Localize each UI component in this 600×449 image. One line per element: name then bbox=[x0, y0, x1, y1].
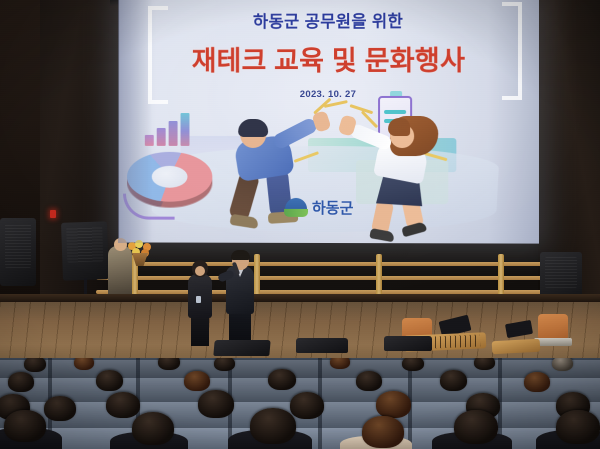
audience-head bbox=[198, 390, 234, 418]
stage-monitor-wedge-3 bbox=[384, 336, 432, 351]
slide-title: 재테크 교육 및 문화행사 bbox=[119, 39, 539, 79]
railing-post-2 bbox=[254, 254, 260, 298]
audience-head bbox=[454, 410, 498, 444]
stage-railing-rail-2 bbox=[96, 276, 566, 280]
railing-post-4 bbox=[498, 254, 504, 298]
speaker-grill bbox=[545, 257, 577, 288]
audience-head bbox=[330, 358, 350, 369]
audience-head bbox=[4, 410, 46, 442]
audience-head bbox=[8, 372, 34, 392]
presenter-1-hair bbox=[231, 250, 250, 260]
bar-4 bbox=[181, 113, 190, 146]
slide-text-block: 하동군 공무원을 위한 재테크 교육 및 문화행사 2023. 10. 27 bbox=[119, 0, 539, 100]
orange-chair-back-2 bbox=[538, 314, 568, 340]
emblem-hills-shape bbox=[284, 209, 308, 217]
audience-head bbox=[24, 358, 46, 372]
stage-railing-rail-1 bbox=[96, 262, 566, 266]
slide-subtitle: 하동군 공무원을 위한 bbox=[119, 7, 539, 32]
audience-head bbox=[250, 408, 296, 444]
bar-1 bbox=[145, 135, 154, 146]
slide-bracket-left bbox=[148, 6, 168, 104]
audience-head bbox=[214, 358, 235, 371]
donut-swoosh bbox=[123, 194, 175, 220]
illustration-man-hair bbox=[238, 119, 268, 137]
audience-head bbox=[552, 358, 573, 371]
slide-illustration: 하동군 bbox=[119, 94, 539, 243]
stage-front-edge bbox=[0, 294, 600, 302]
pa-speaker-left-2 bbox=[61, 221, 109, 281]
donut-chart-graphic bbox=[123, 146, 220, 216]
bar-2 bbox=[157, 128, 166, 146]
audience-head bbox=[158, 358, 180, 370]
stage-monitor-wedge-2 bbox=[296, 338, 348, 353]
hadong-logo-text: 하동군 bbox=[312, 196, 353, 217]
audience-head bbox=[376, 391, 411, 418]
audience-head bbox=[440, 370, 467, 391]
speaker-grill bbox=[66, 226, 103, 262]
audience-head bbox=[132, 412, 174, 445]
projection-screen: 하동군 공무원을 위한 재테크 교육 및 문화행사 2023. 10. 27 bbox=[119, 0, 539, 244]
audience-seating bbox=[0, 358, 600, 449]
audience-head bbox=[106, 392, 140, 418]
audience-head bbox=[402, 358, 424, 371]
audience-head bbox=[556, 410, 600, 444]
presenter-2-legs bbox=[191, 314, 209, 346]
flower-bouquet bbox=[128, 240, 154, 260]
audience-head bbox=[268, 369, 296, 390]
bouquet-flower-2 bbox=[135, 240, 143, 248]
clipboard-line-1 bbox=[384, 110, 406, 114]
gayageum-zither-2 bbox=[492, 339, 541, 354]
audience-head bbox=[524, 372, 550, 392]
auditorium-photo: 하동군 공무원을 위한 재테크 교육 및 문화행사 2023. 10. 27 bbox=[0, 0, 600, 449]
audience-head bbox=[362, 416, 404, 448]
hadong-emblem-icon bbox=[284, 197, 308, 217]
presenter-2-badge bbox=[196, 296, 201, 303]
slide-bracket-right bbox=[502, 2, 522, 100]
bar-3 bbox=[169, 121, 178, 146]
stage-attendant-head bbox=[114, 238, 127, 251]
stage-monitor-wedge-1 bbox=[213, 340, 270, 356]
audience-head bbox=[184, 371, 210, 391]
audience-head bbox=[96, 370, 123, 391]
exit-indicator-light-1 bbox=[50, 210, 56, 218]
pa-speaker-left-1 bbox=[0, 218, 36, 286]
presenter-2-face bbox=[195, 266, 205, 276]
donut-hole bbox=[152, 166, 188, 188]
audience-head bbox=[290, 392, 324, 419]
speaker-grill bbox=[5, 223, 31, 268]
audience-head bbox=[474, 358, 495, 370]
audience-head bbox=[74, 358, 94, 370]
bar-chart-graphic bbox=[145, 110, 203, 146]
audience-head bbox=[44, 396, 76, 421]
railing-post-3 bbox=[376, 254, 382, 298]
illustration-woman-bangs bbox=[388, 118, 410, 136]
audience-head bbox=[356, 371, 382, 391]
hadong-logo: 하동군 bbox=[284, 194, 394, 220]
